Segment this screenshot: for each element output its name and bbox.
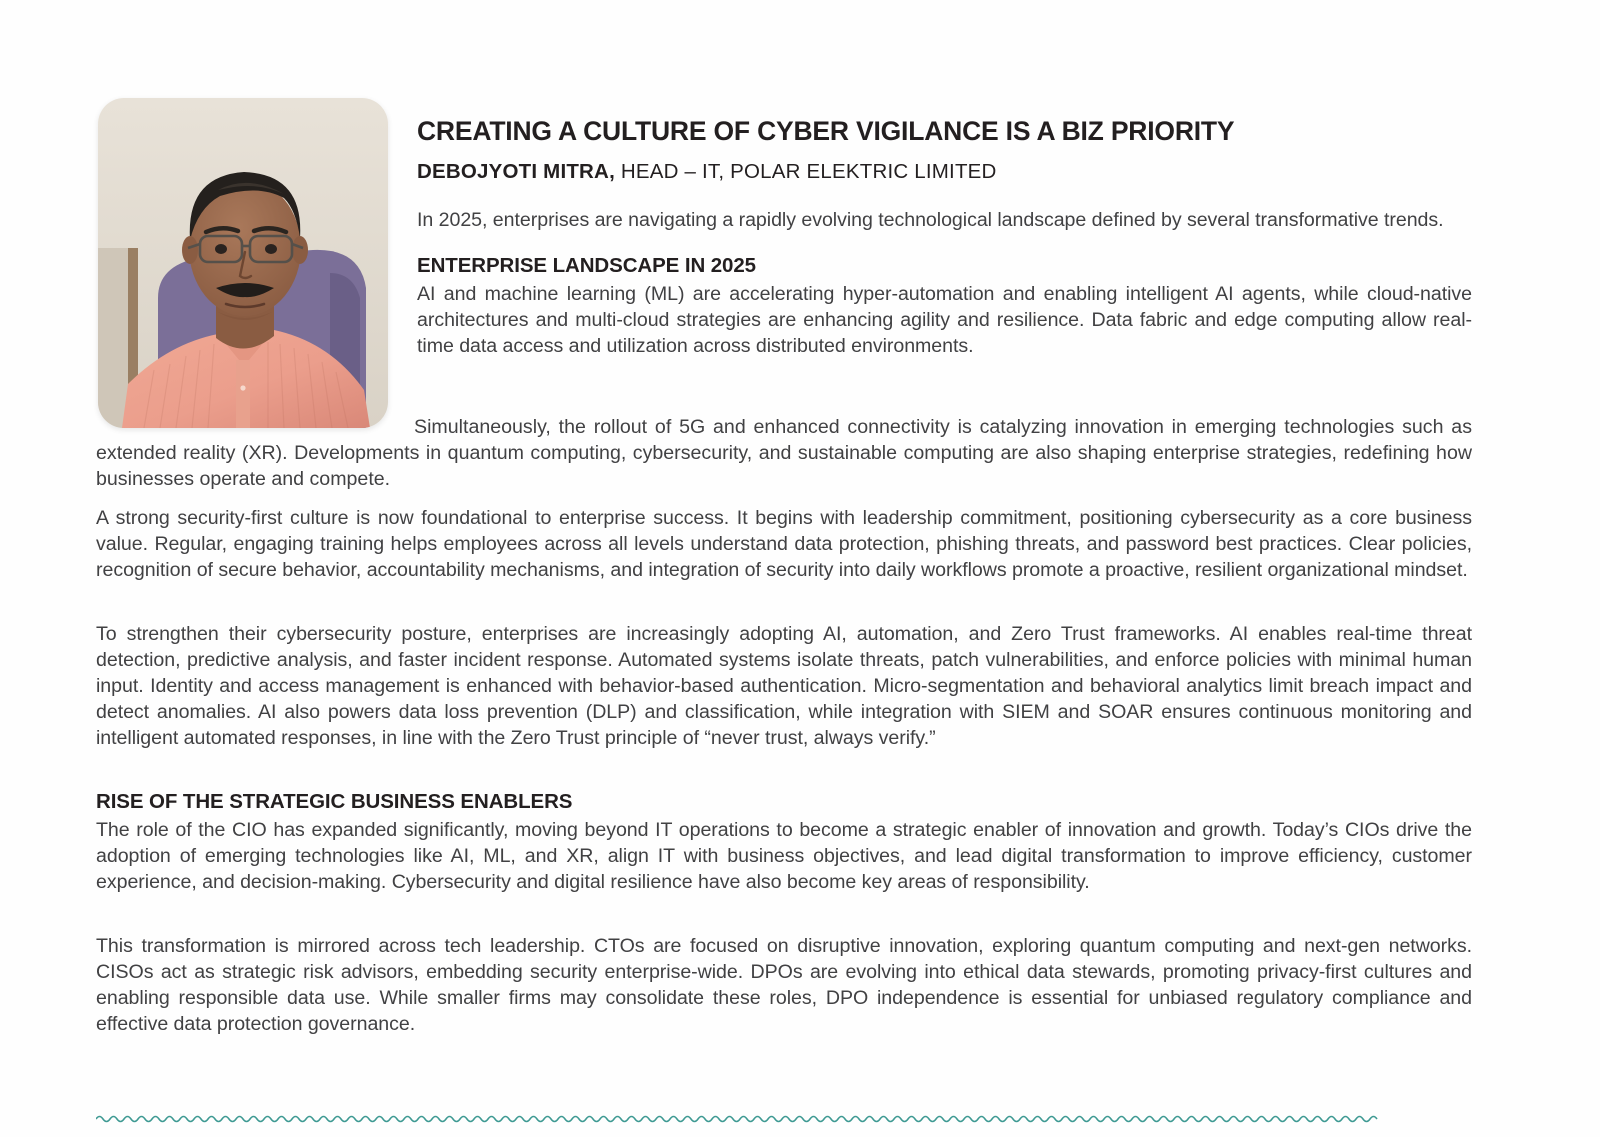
wavy-divider-icon (96, 1111, 1444, 1123)
article-intro-column: In 2025, enterprises are navigating a ra… (417, 207, 1472, 359)
portrait-photo (98, 98, 388, 428)
article-main-column: A strong security-first culture is now f… (96, 505, 1472, 1057)
intro-paragraph: In 2025, enterprises are navigating a ra… (417, 207, 1472, 233)
article-byline: DEBOJYOTI MITRA, HEAD – IT, POLAR ELEKTR… (417, 160, 1472, 185)
byline-author-role: HEAD – IT, POLAR ELEKTRIC LIMITED (615, 160, 997, 183)
paragraph-spacer-2 (96, 771, 1472, 789)
paragraph-5g-connectivity: Simultaneously, the rollout of 5G and en… (96, 414, 1472, 492)
article-headline: CREATING A CULTURE OF CYBER VIGILANCE IS… (417, 116, 1472, 146)
section-body-enterprise-landscape: AI and machine learning (ML) are acceler… (417, 281, 1472, 359)
paragraph-security-culture: A strong security-first culture is now f… (96, 505, 1472, 583)
paragraph-zero-trust: To strengthen their cybersecurity postur… (96, 621, 1472, 751)
section-heading-enterprise-landscape: ENTERPRISE LANDSCAPE IN 2025 (417, 253, 1472, 280)
article-page: CREATING A CULTURE OF CYBER VIGILANCE IS… (0, 0, 1600, 1137)
portrait-illustration (98, 98, 388, 428)
photo-float-spacer (96, 414, 414, 440)
paragraph-spacer (96, 603, 1472, 621)
section-body-business-enablers: The role of the CIO has expanded signifi… (96, 817, 1472, 895)
paragraph-tech-leadership: This transformation is mirrored across t… (96, 933, 1472, 1037)
paragraph-spacer-3 (96, 915, 1472, 933)
byline-author-name: DEBOJYOTI MITRA, (417, 160, 615, 183)
wavy-divider (96, 1111, 1444, 1123)
section-heading-business-enablers: RISE OF THE STRATEGIC BUSINESS ENABLERS (96, 789, 1472, 816)
